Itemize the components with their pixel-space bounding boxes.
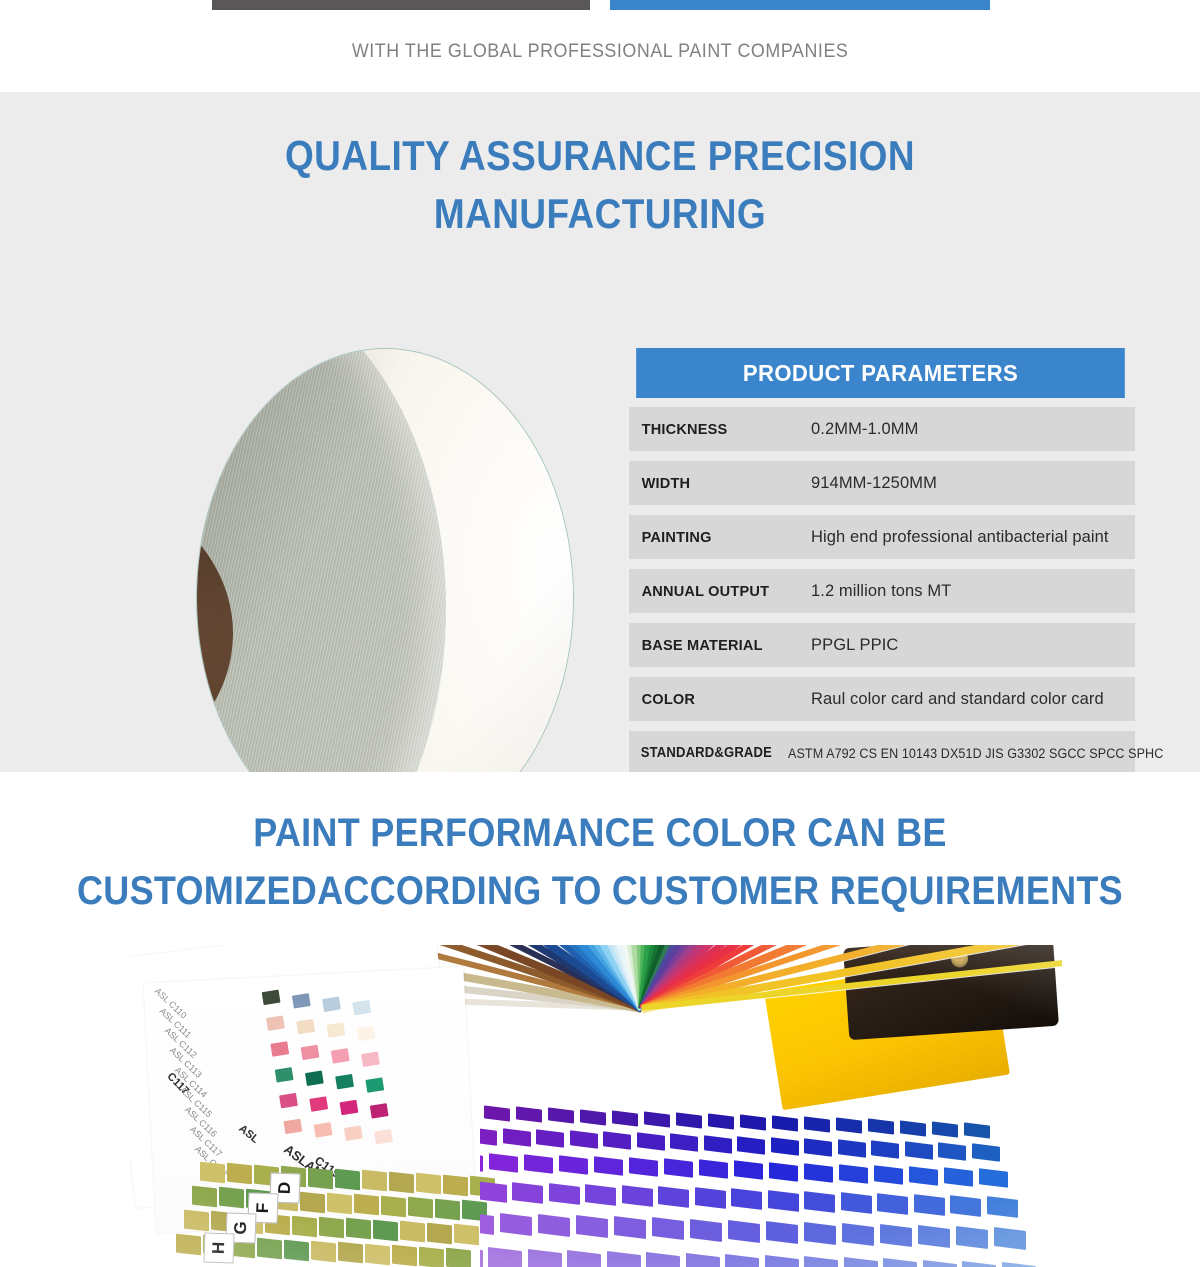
swatch-grid-cell xyxy=(192,1186,217,1208)
param-label: COLOR xyxy=(629,691,806,708)
swatch-grid-cell xyxy=(389,1171,414,1193)
swatch-grid-cell xyxy=(664,1158,693,1178)
swatch-grid-cell xyxy=(874,1165,903,1185)
table-row: COLOR Raul color card and standard color… xyxy=(626,677,1135,721)
swatch-grid-cell xyxy=(308,1167,333,1189)
table-row: STANDARD&GRADE ASTM A792 CS EN 10143 DX5… xyxy=(626,731,1135,775)
swatch-grid-cell xyxy=(804,1138,832,1156)
swatch-grid-cell xyxy=(257,1238,282,1260)
swatch-grid-cell xyxy=(538,1214,570,1237)
swatch-chip xyxy=(335,1074,354,1089)
swatch-grid-cell xyxy=(804,1163,833,1183)
swatch-grid-cell xyxy=(731,1189,762,1211)
swatch-chip xyxy=(331,1048,350,1063)
swatch-grid-cell xyxy=(836,1118,862,1134)
grid-letter-h: H xyxy=(203,1232,234,1263)
swatch-grid-cell xyxy=(443,1174,468,1196)
table-row: THICKNESS 0.2MM-1.0MM xyxy=(626,407,1135,451)
swatch-grid-cell xyxy=(962,1261,996,1267)
swatch-grid-cell xyxy=(408,1197,433,1219)
swatch-grid-cell xyxy=(500,1213,532,1236)
param-table-header: PRODUCT PARAMETERS xyxy=(636,348,1125,398)
magenta-color-grid xyxy=(480,1105,1062,1267)
param-label: WIDTH xyxy=(629,475,806,492)
param-value: 1.2 million tons MT xyxy=(811,582,1135,601)
swatch-grid-cell xyxy=(644,1111,670,1127)
swatch-grid-cell xyxy=(200,1162,225,1184)
swatch-grid-cell xyxy=(646,1252,680,1267)
param-value: 914MM-1250MM xyxy=(811,474,1135,493)
swatch-grid-cell xyxy=(400,1221,425,1243)
swatch-grid-cell xyxy=(804,1222,836,1245)
swatch-grid-cell xyxy=(292,1215,317,1237)
swatch-grid-cell xyxy=(964,1122,990,1138)
swatch-grid-cell xyxy=(652,1217,684,1240)
swatch-grid-cell xyxy=(585,1184,616,1206)
tab-bar-dark[interactable] xyxy=(212,0,590,10)
product-parameters-section: QUALITY ASSURANCE PRECISION MANUFACTURIN… xyxy=(0,92,1200,772)
param-table-body: THICKNESS 0.2MM-1.0MM WIDTH 914MM-1250MM… xyxy=(626,407,1135,835)
swatch-grid-cell xyxy=(607,1251,641,1267)
swatch-grid-cell xyxy=(950,1195,981,1217)
swatch-grid-cell xyxy=(909,1166,938,1186)
swatch-grid-cell xyxy=(725,1254,759,1267)
swatch-grid-cell xyxy=(695,1187,726,1209)
section-title-line1: QUALITY ASSURANCE PRECISION xyxy=(72,127,1128,185)
param-label: ANNUAL OUTPUT xyxy=(629,583,806,600)
swatch-chip xyxy=(305,1070,324,1085)
swatch-grid-cell xyxy=(548,1108,574,1124)
swatch-grid-cell xyxy=(676,1112,702,1128)
swatch-grid-cell xyxy=(489,1153,518,1173)
param-label: BASE MATERIAL xyxy=(629,637,806,654)
swatch-grid-cell xyxy=(392,1245,417,1267)
swatch-chip xyxy=(357,1026,376,1041)
swatch-grid-cell xyxy=(740,1114,766,1130)
swatch-grid-cell xyxy=(300,1191,325,1213)
swatch-grid-cell xyxy=(427,1222,452,1244)
swatch-grid-cell xyxy=(327,1193,352,1215)
swatch-grid-cell xyxy=(994,1227,1026,1250)
swatch-chip xyxy=(361,1052,380,1067)
param-value: ASTM A792 CS EN 10143 DX51D JIS G3302 SG… xyxy=(788,746,1163,761)
swatch-grid-cell xyxy=(772,1115,798,1131)
swatch-grid-cell xyxy=(338,1242,363,1264)
swatch-grid-cell xyxy=(923,1259,957,1267)
swatch-grid-cell xyxy=(580,1109,606,1125)
swatch-grid-cell xyxy=(480,1127,497,1145)
section-title: QUALITY ASSURANCE PRECISION MANUFACTURIN… xyxy=(72,127,1128,243)
section-title-line2: MANUFACTURING xyxy=(72,185,1128,243)
table-row: PAINTING High end professional antibacte… xyxy=(626,515,1135,559)
swatch-grid-cell xyxy=(690,1219,722,1242)
swatch-grid-cell xyxy=(419,1246,444,1267)
swatch-grid-cell xyxy=(734,1161,763,1181)
swatch-chip xyxy=(370,1103,389,1118)
swatch-grid-cell xyxy=(771,1137,799,1155)
swatch-grid-cell xyxy=(932,1121,958,1137)
swatch-grid-cell xyxy=(658,1186,689,1208)
swatch-grid-cell xyxy=(319,1217,344,1239)
swatch-grid-cell xyxy=(284,1239,309,1261)
swatch-grid-cell xyxy=(765,1255,799,1267)
swatch-grid-cell xyxy=(637,1133,665,1151)
top-tab-strip xyxy=(0,0,1200,10)
swatch-grid-cell xyxy=(176,1234,201,1256)
swatch-grid-cell xyxy=(446,1248,471,1267)
swatch-chip xyxy=(292,993,311,1008)
swatch-grid-cell xyxy=(704,1135,732,1153)
swatch-grid-cell xyxy=(373,1219,398,1241)
swatch-grid-cell xyxy=(484,1106,510,1122)
swatch-grid-cell xyxy=(576,1215,608,1238)
swatch-grid-cell xyxy=(480,1246,482,1267)
swatch-grid-cell xyxy=(335,1169,360,1191)
olive-color-grid xyxy=(140,1163,470,1267)
swatch-grid-cell xyxy=(570,1130,598,1148)
swatch-grid-cell xyxy=(699,1160,728,1180)
param-value: 0.2MM-1.0MM xyxy=(811,420,1135,439)
swatch-chip xyxy=(365,1077,384,1092)
swatch-grid-cell xyxy=(914,1194,945,1216)
swatch-grid-cell xyxy=(362,1170,387,1192)
swatch-chip xyxy=(301,1045,320,1060)
swatch-grid-cell xyxy=(1002,1262,1036,1267)
swatch-grid-cell xyxy=(549,1183,580,1205)
swatch-chip xyxy=(266,1015,285,1030)
swatch-grid-cell xyxy=(804,1191,835,1213)
table-row: ANNUAL OUTPUT 1.2 million tons MT xyxy=(626,569,1135,613)
swatch-grid-cell xyxy=(480,1181,506,1203)
swatch-grid-cell xyxy=(594,1156,623,1176)
swatch-grid-cell xyxy=(365,1243,390,1265)
param-label: STANDARD&GRADE xyxy=(629,745,772,761)
swatch-grid-cell xyxy=(603,1131,631,1149)
swatch-grid-cell xyxy=(184,1210,209,1232)
param-value: Raul color card and standard color card xyxy=(811,690,1135,709)
swatch-grid-cell xyxy=(880,1224,912,1247)
color-heading-line2: CUSTOMIZEDACCORDING TO CUSTOMER REQUIREM… xyxy=(60,862,1140,920)
swatch-grid-cell xyxy=(512,1182,543,1204)
param-value: High end professional antibacterial pain… xyxy=(811,528,1135,547)
swatch-grid-cell xyxy=(346,1218,371,1240)
swatch-grid-cell xyxy=(381,1195,406,1217)
swatch-grid-cell xyxy=(871,1140,899,1158)
swatch-grid-cell xyxy=(728,1220,760,1243)
swatch-grid-cell xyxy=(987,1196,1018,1218)
table-row: WIDTH 914MM-1250MM xyxy=(626,461,1135,505)
table-row: BASE MATERIAL PPGL PPIC xyxy=(626,623,1135,667)
swatch-chip xyxy=(262,990,281,1005)
swatch-grid-cell xyxy=(435,1198,460,1220)
swatch-grid-cell xyxy=(480,1152,483,1172)
product-parameters-table: PRODUCT PARAMETERS THICKNESS 0.2MM-1.0MM… xyxy=(626,348,1135,845)
param-label: THICKNESS xyxy=(629,421,806,438)
swatch-grid-cell xyxy=(905,1141,933,1159)
swatch-grid-cell xyxy=(670,1134,698,1152)
swatch-grid-cell xyxy=(956,1226,988,1249)
swatch-grid-cell xyxy=(938,1142,966,1160)
swatch-grid-cell xyxy=(528,1248,562,1267)
swatch-grid-cell xyxy=(768,1190,799,1212)
swatch-chip xyxy=(296,1019,315,1034)
swatch-chip xyxy=(344,1126,363,1141)
swatch-grid-cell xyxy=(804,1117,830,1133)
swatch-grid-cell xyxy=(524,1154,553,1174)
swatch-grid-cell xyxy=(804,1256,838,1267)
swatch-grid-cell xyxy=(883,1258,917,1267)
swatch-grid-cell xyxy=(686,1253,720,1267)
swatch-grid-cell xyxy=(311,1241,336,1263)
swatch-grid-cell xyxy=(227,1163,252,1185)
swatch-grid-cell xyxy=(622,1185,653,1207)
swatch-chip xyxy=(322,996,341,1011)
swatch-grid-cell xyxy=(629,1157,658,1177)
swatch-grid-cell xyxy=(918,1225,950,1248)
swatch-grid-cell xyxy=(503,1128,531,1146)
swatch-chip xyxy=(314,1122,333,1137)
swatch-grid-cell xyxy=(838,1139,866,1157)
swatch-grid-cell xyxy=(516,1107,542,1123)
swatch-grid-cell xyxy=(612,1110,638,1126)
swatch-chip xyxy=(340,1100,359,1115)
color-section-heading: PAINT PERFORMANCE COLOR CAN BE CUSTOMIZE… xyxy=(60,804,1140,920)
subtitle-banner: WITH THE GLOBAL PROFESSIONAL PAINT COMPA… xyxy=(0,12,1200,92)
param-value: PPGL PPIC xyxy=(811,636,1135,655)
swatch-chip xyxy=(275,1067,294,1082)
swatch-grid-cell xyxy=(488,1247,522,1267)
swatch-grid-cell xyxy=(454,1224,479,1246)
swatch-grid-cell xyxy=(536,1129,564,1147)
swatch-grid-cell xyxy=(559,1155,588,1175)
swatch-grid-cell xyxy=(737,1136,765,1154)
swatch-chip xyxy=(309,1096,328,1111)
swatch-chip xyxy=(352,1000,371,1015)
swatch-grid-cell xyxy=(972,1144,1000,1162)
swatch-grid-cell xyxy=(416,1173,441,1195)
swatch-chip xyxy=(326,1022,345,1037)
aslan-label-2: ASL xyxy=(236,1123,261,1146)
swatch-grid-cell xyxy=(219,1187,244,1209)
tab-bar-blue[interactable] xyxy=(610,0,990,10)
swatch-chip xyxy=(270,1041,289,1056)
color-heading-line1: PAINT PERFORMANCE COLOR CAN BE xyxy=(60,804,1140,862)
swatch-grid-cell xyxy=(877,1193,908,1215)
swatch-chip xyxy=(374,1129,393,1144)
swatch-grid-cell xyxy=(769,1162,798,1182)
swatch-grid-cell xyxy=(354,1194,379,1216)
swatch-grid-cell xyxy=(841,1192,872,1214)
param-label: PAINTING xyxy=(629,529,806,546)
swatch-grid-cell xyxy=(480,1212,494,1235)
subtitle-text: WITH THE GLOBAL PROFESSIONAL PAINT COMPA… xyxy=(352,41,849,63)
swatch-grid-cell xyxy=(766,1221,798,1244)
swatch-grid-cell xyxy=(614,1216,646,1239)
swatch-grid-cell xyxy=(842,1223,874,1246)
color-swatch-photo: ASLAN ASL C117 C119 ASL C110ASL C111ASL … xyxy=(130,945,1062,1267)
swatch-grid-cell xyxy=(844,1257,878,1267)
swatch-grid-cell xyxy=(979,1168,1008,1188)
swatch-chip xyxy=(283,1119,302,1134)
product-detail-page: WITH THE GLOBAL PROFESSIONAL PAINT COMPA… xyxy=(0,0,1200,1267)
swatch-grid-cell xyxy=(708,1113,734,1129)
swatch-chip xyxy=(279,1093,298,1108)
swatch-grid-cell xyxy=(868,1119,894,1135)
swatch-grid-cell xyxy=(567,1250,601,1267)
swatch-grid-cell xyxy=(944,1167,973,1187)
swatch-grid-cell xyxy=(839,1164,868,1184)
swatch-grid-cell xyxy=(900,1120,926,1136)
